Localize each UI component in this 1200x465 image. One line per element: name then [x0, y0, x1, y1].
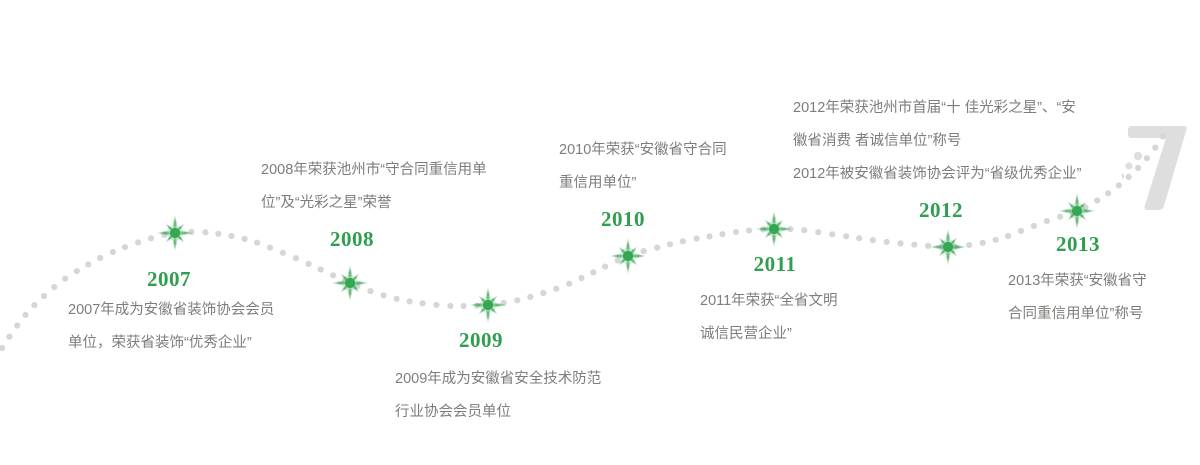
milestone-year-label-2013: 2013	[1056, 232, 1100, 257]
milestone-description-line: 2011年荣获“全省文明	[700, 285, 838, 318]
milestone-description-line: 2012年荣获池州市首届“十 佳光彩之星”、“安	[793, 92, 1081, 125]
milestone-description-2008: 2008年荣获池州市“守合同重信用单位”及“光彩之星”荣誉	[261, 154, 487, 220]
milestone-description-2010: 2010年荣获“安徽省守合同重信用单位”	[559, 134, 727, 200]
milestone-year-label-2008: 2008	[330, 227, 374, 252]
timeline-infographic: 2007200820092010201120122013 2007年成为安徽省装…	[0, 0, 1200, 465]
milestone-description-line: 合同重信用单位”称号	[1008, 298, 1147, 331]
milestone-description-line: 诚信民营企业”	[700, 318, 838, 351]
milestone-description-line: 2013年荣获“安徽省守	[1008, 265, 1147, 298]
milestone-star-icon-2010[interactable]	[608, 236, 648, 276]
milestone-description-2007: 2007年成为安徽省装饰协会会员单位，荣获省装饰“优秀企业”	[68, 294, 274, 360]
milestone-year-label-2010: 2010	[601, 207, 645, 232]
milestone-description-line: 2009年成为安徽省安全技术防范	[395, 363, 601, 396]
milestone-year-label-2011: 2011	[754, 252, 797, 277]
milestone-star-icon-2009[interactable]	[468, 285, 508, 325]
milestone-star-icon-2011[interactable]	[754, 209, 794, 249]
milestone-star-icon-2013[interactable]	[1057, 191, 1097, 231]
milestone-description-line: 单位，荣获省装饰“优秀企业”	[68, 327, 274, 360]
milestone-description-line: 徽省消费 者诚信单位”称号	[793, 125, 1081, 158]
milestone-year-label-2009: 2009	[459, 328, 503, 353]
milestone-description-2011: 2011年荣获“全省文明诚信民营企业”	[700, 285, 838, 351]
milestone-description-2012: 2012年荣获池州市首届“十 佳光彩之星”、“安徽省消费 者诚信单位”称号201…	[793, 92, 1081, 191]
milestone-description-2013: 2013年荣获“安徽省守合同重信用单位”称号	[1008, 265, 1147, 331]
milestone-description-line: 行业协会会员单位	[395, 396, 601, 429]
milestone-star-icon-2012[interactable]	[928, 227, 968, 267]
milestone-description-line: 2007年成为安徽省装饰协会会员	[68, 294, 274, 327]
milestone-star-icon-2008[interactable]	[330, 263, 370, 303]
milestone-description-2009: 2009年成为安徽省安全技术防范行业协会会员单位	[395, 363, 601, 429]
milestone-description-line: 位”及“光彩之星”荣誉	[261, 187, 487, 220]
milestone-year-label-2007: 2007	[147, 267, 191, 292]
milestone-year-label-2012: 2012	[919, 198, 963, 223]
milestone-description-line: 2012年被安徽省装饰协会评为“省级优秀企业”	[793, 158, 1081, 191]
milestone-description-line: 2010年荣获“安徽省守合同	[559, 134, 727, 167]
milestone-description-line: 2008年荣获池州市“守合同重信用单	[261, 154, 487, 187]
milestone-description-line: 重信用单位”	[559, 167, 727, 200]
milestone-star-icon-2007[interactable]	[155, 213, 195, 253]
